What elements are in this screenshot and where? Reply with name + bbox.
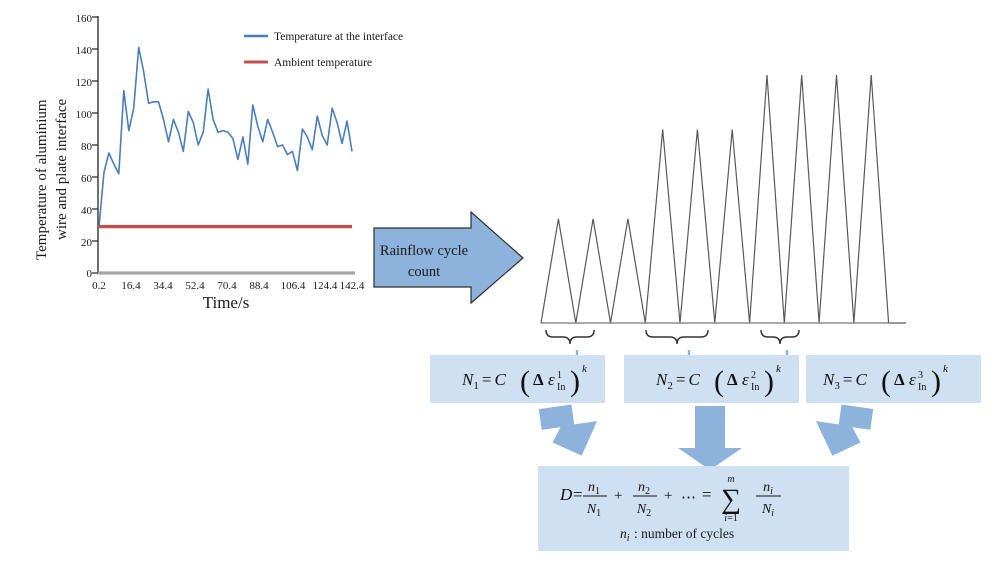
n3-paren-open: (: [881, 365, 891, 398]
x-tick-2: 34.4: [153, 280, 173, 292]
x-axis-title: Time/s: [203, 293, 250, 312]
rainflow-process-arrow: Rainflow cycle count: [374, 212, 523, 303]
damage-plus-2: +: [664, 488, 672, 504]
n2-paren-open: (: [714, 365, 724, 398]
n2-equals: =: [676, 370, 686, 389]
y-tick-20: 20: [81, 237, 93, 249]
y-tick-0: 0: [87, 268, 93, 280]
svg-text:N2=C: N2=C: [655, 370, 700, 392]
legend-label-interface: Temperature at the interface: [274, 31, 403, 43]
y-tick-160: 160: [76, 13, 93, 25]
n1-coef: C: [494, 370, 506, 389]
svg-text:N3=C: N3=C: [822, 370, 867, 392]
series-temperature-line: [99, 47, 352, 226]
brace-group-1: [546, 330, 594, 344]
x-tick-6: 106.4: [281, 280, 306, 292]
n2-coef: C: [688, 370, 700, 389]
temperature-chart: Temperature of aluminium wire and plate …: [34, 13, 403, 312]
damage-sigma: ∑: [721, 484, 741, 515]
n3-subscript: 3: [834, 380, 840, 392]
x-tick-4: 70.4: [217, 280, 237, 292]
damage-sigma-upper: m: [727, 474, 734, 485]
x-tick-8: 142.4: [340, 280, 365, 292]
svg-text:N1=C: N1=C: [461, 370, 506, 392]
x-tick-0: 0.2: [92, 280, 106, 292]
x-tick-1: 16.4: [121, 280, 141, 292]
n1-equals: =: [482, 370, 492, 389]
damage-D: D: [559, 485, 573, 504]
y-tick-40: 40: [81, 205, 93, 217]
n1-eps-subscript: In: [557, 382, 565, 393]
n1-delta: Δ: [533, 370, 544, 389]
arrow-left-diagonal: [539, 401, 602, 460]
n3-coef: C: [855, 370, 867, 389]
n3-equals: =: [843, 370, 853, 389]
damage-formula-box: D = n1 N1 + n2 N2 +: [538, 466, 849, 551]
chart-legend: Temperature at the interface Ambient tem…: [244, 31, 403, 69]
process-arrow-label-line2: count: [408, 264, 440, 280]
n3-paren-close: ): [931, 365, 941, 398]
damage-dots: ⋯: [681, 490, 696, 506]
y-tick-60: 60: [81, 173, 93, 185]
arrow-right-diagonal: [812, 401, 874, 460]
n1-paren-open: (: [520, 365, 530, 398]
y-axis-title-line1: Temperature of aluminium: [34, 99, 50, 260]
x-tick-7: 124.4: [313, 280, 338, 292]
process-arrow-label-line1: Rainflow cycle: [380, 243, 468, 259]
legend-label-ambient: Ambient temperature: [274, 57, 372, 69]
figure-canvas: Temperature of aluminium wire and plate …: [0, 0, 994, 563]
y-axis-title: Temperature of aluminium wire and plate …: [34, 98, 70, 260]
n1-epsilon: ε: [548, 370, 555, 389]
n3-epsilon: ε: [909, 370, 916, 389]
y-tick-80: 80: [81, 141, 93, 153]
waveform-polyline: [541, 75, 906, 323]
arrow-center-down: [678, 406, 742, 470]
y-axis-title-line2: wire and plate interface: [54, 98, 70, 240]
damage-equals-2: =: [702, 485, 712, 504]
caption-text: : number of cycles: [634, 526, 734, 541]
damage-equals: =: [573, 485, 583, 504]
n3-delta: Δ: [894, 370, 905, 389]
n2-eps-superscript: 2: [751, 370, 756, 381]
n1-eps-superscript: 1: [557, 370, 562, 381]
x-tick-3: 52.4: [185, 280, 205, 292]
y-tick-100: 100: [76, 109, 93, 121]
x-tick-labels: 0.2 16.4 34.4 52.4 70.4 88.4 106.4 124.4…: [92, 280, 365, 292]
damage-plus-1: +: [614, 488, 622, 504]
brace-group-2: [646, 330, 708, 344]
cycle-formula-boxes: N1=C ( Δ ε 1 In ) k N2=C ( Δ ε 2 In ): [430, 355, 981, 403]
cycle-braces: [546, 330, 799, 344]
n1-subscript: 1: [473, 380, 479, 392]
n3-eps-superscript: 3: [918, 370, 923, 381]
n3-eps-subscript: In: [918, 382, 926, 393]
n2-epsilon: ε: [742, 370, 749, 389]
y-axis-ticks: [92, 17, 98, 273]
y-tick-140: 140: [76, 45, 93, 57]
brace-group-3: [761, 330, 799, 344]
n2-eps-subscript: In: [751, 382, 759, 393]
y-tick-labels: 160 140 120 100 80 60 40 20 0: [76, 13, 93, 280]
figure-root: Temperature of aluminium wire and plate …: [0, 0, 994, 563]
n1-paren-close: ): [570, 365, 580, 398]
x-tick-5: 88.4: [249, 280, 269, 292]
y-tick-120: 120: [76, 77, 93, 89]
damage-sigma-lower: i=1: [724, 513, 737, 524]
n2-delta: Δ: [727, 370, 738, 389]
damage-arrows: [539, 401, 873, 470]
rainflow-waveform: [541, 75, 906, 357]
n2-paren-close: ): [764, 365, 774, 398]
n2-subscript: 2: [667, 380, 673, 392]
